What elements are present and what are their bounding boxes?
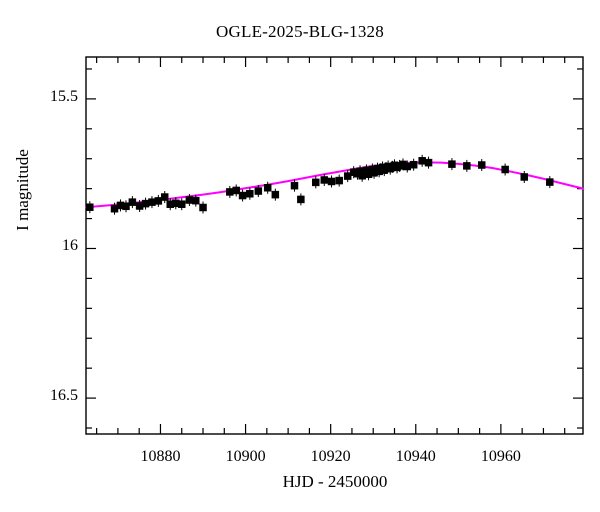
- data-point: [291, 182, 298, 189]
- data-point: [448, 161, 455, 168]
- data-point: [148, 199, 155, 206]
- data-point: [312, 179, 319, 186]
- data-point: [410, 161, 417, 168]
- light-curve-figure: OGLE-2025-BLG-1328 I magnitude HJD - 245…: [0, 0, 600, 512]
- x-axis-ticks: [97, 57, 565, 434]
- data-point: [192, 197, 199, 204]
- data-point: [502, 166, 509, 173]
- data-point: [264, 184, 271, 191]
- data-point: [129, 199, 136, 206]
- data-point: [233, 187, 240, 194]
- data-points: [86, 155, 553, 215]
- data-point: [186, 197, 193, 204]
- data-point: [425, 159, 432, 166]
- data-point: [239, 192, 246, 199]
- data-point: [419, 157, 426, 164]
- data-point: [328, 178, 335, 185]
- data-point: [336, 177, 343, 184]
- axis-frame: [86, 57, 583, 434]
- data-point: [200, 204, 207, 211]
- data-point: [226, 188, 233, 195]
- y-tick-label: 16: [0, 237, 78, 255]
- data-point: [155, 197, 162, 204]
- data-point: [463, 162, 470, 169]
- x-tick-label: 10960: [451, 448, 551, 466]
- data-point: [178, 201, 185, 208]
- data-point: [546, 179, 553, 186]
- data-point: [255, 188, 262, 195]
- data-point: [478, 162, 485, 169]
- data-point: [142, 200, 149, 207]
- data-point: [123, 203, 130, 210]
- data-point: [272, 191, 279, 198]
- y-axis-ticks: [86, 69, 583, 428]
- y-tick-label: 16.5: [0, 387, 78, 405]
- data-point: [321, 176, 328, 183]
- y-tick-label: 15.5: [0, 88, 78, 106]
- data-point: [161, 194, 168, 201]
- data-point: [297, 196, 304, 203]
- data-point: [404, 163, 411, 170]
- data-point: [86, 204, 93, 211]
- data-point: [246, 190, 253, 197]
- data-point: [521, 173, 528, 180]
- plot-area: [0, 0, 600, 512]
